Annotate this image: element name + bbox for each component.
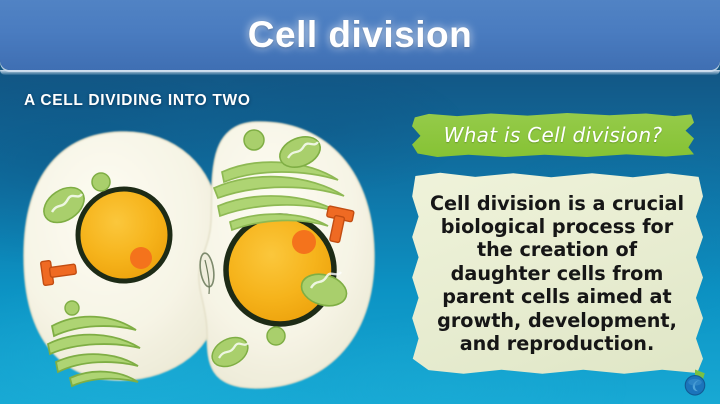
vesicle [65,301,79,315]
definition-panel: Cell division is a crucial biological pr… [411,172,703,375]
left-cell-nucleus [78,189,170,281]
infographic-canvas: Cell division A CELL DIVIDING INTO TWO W… [0,0,720,404]
vesicle [267,327,285,345]
right-nucleolus [292,230,316,254]
header-banner: Cell division [0,0,720,70]
definition-text: Cell division is a crucial biological pr… [411,172,703,375]
vesicle [244,130,264,150]
right-cell-nucleus [226,216,334,324]
illustration-caption: A CELL DIVIDING INTO TWO [24,92,254,111]
question-banner-label: What is Cell division? [412,113,694,157]
header-underglow [0,70,720,75]
vesicle [92,173,110,191]
site-logo-icon[interactable] [680,368,710,398]
cell-division-illustration [8,100,408,400]
question-banner: What is Cell division? [412,113,694,157]
page-title: Cell division [248,14,472,56]
left-nucleolus [130,247,152,269]
